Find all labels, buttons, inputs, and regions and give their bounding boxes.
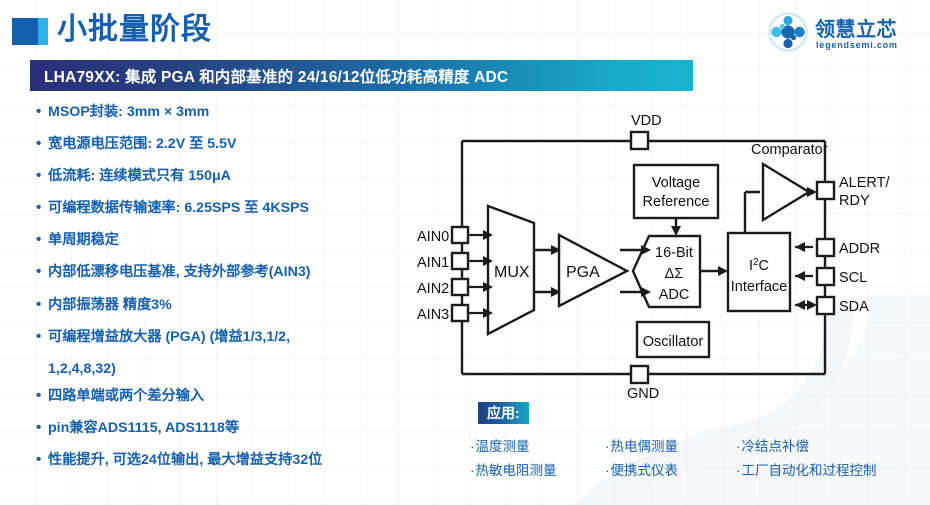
- label-alert: ALERT/: [839, 175, 890, 191]
- ain0-pin-square: [452, 227, 468, 243]
- label-ain2: AIN2: [417, 281, 449, 297]
- application-item: ·热电偶测量: [605, 438, 736, 455]
- application-bullet-icon: ·: [470, 463, 475, 478]
- comparator-input-line: [745, 192, 760, 233]
- feature-bullet-9: •四路单端或两个差分输入: [36, 388, 456, 404]
- label-sda: SDA: [839, 299, 869, 315]
- bullet-marker-icon: •: [36, 297, 48, 313]
- feature-bullet-2: •低流耗: 连续模式只有 150μA: [36, 168, 456, 184]
- applications-header-badge: 应用:: [478, 402, 529, 424]
- application-item: ·工厂自动化和过程控制: [736, 462, 877, 479]
- bullet-marker-icon: •: [36, 136, 48, 152]
- label-ain1: AIN1: [417, 255, 449, 271]
- label-i2c: I2C: [749, 257, 769, 274]
- accent-dark-square: [12, 18, 38, 45]
- bullet-marker-icon: •: [36, 168, 48, 184]
- application-bullet-icon: ·: [605, 439, 610, 454]
- bullet-marker-icon: •: [36, 200, 48, 216]
- bullet-marker-icon: •: [36, 264, 48, 280]
- application-item-text: 温度测量: [476, 439, 530, 454]
- bullet-marker-icon: •: [36, 388, 48, 404]
- alert-rdy-pin-square: [817, 182, 834, 199]
- feature-bullet-5: •内部低漂移电压基准, 支持外部参考(AIN3): [36, 264, 456, 280]
- feature-bullet-text: 宽电源电压范围: 2.2V 至 5.5V: [48, 136, 456, 152]
- feature-bullet-text: 四路单端或两个差分输入: [48, 388, 456, 404]
- svg-text:领慧立芯: 领慧立芯: [815, 17, 897, 41]
- label-vdd: VDD: [631, 113, 662, 129]
- bullet-marker-icon: •: [36, 452, 48, 468]
- feature-bullet-text: 1,2,4,8,32): [48, 361, 456, 377]
- feature-bullet-text: 内部振荡器 精度3%: [48, 297, 456, 313]
- applications-row: ·温度测量·热电偶测量·冷结点补偿: [470, 438, 930, 455]
- label-pga: PGA: [566, 264, 600, 281]
- application-item-text: 冷结点补偿: [742, 439, 810, 454]
- feature-bullet-list: •MSOP封装: 3mm × 3mm•宽电源电压范围: 2.2V 至 5.5V•…: [36, 104, 456, 484]
- feature-bullet-6: •内部振荡器 精度3%: [36, 297, 456, 313]
- application-item-text: 便携式仪表: [611, 463, 679, 478]
- application-item-text: 热电偶测量: [611, 439, 679, 454]
- label-mux: MUX: [494, 264, 530, 281]
- bullet-marker-icon: •: [36, 104, 48, 120]
- feature-bullet-0: •MSOP封装: 3mm × 3mm: [36, 104, 456, 120]
- applications-header-text: 应用:: [487, 403, 520, 423]
- bullet-marker-icon: •: [36, 232, 48, 248]
- feature-bullet-text: 可编程数据传输速率: 6.25SPS 至 4KSPS: [48, 200, 456, 216]
- feature-bullet-text: 单周期稳定: [48, 232, 456, 248]
- product-subtitle-banner: LHA79XX: 集成 PGA 和内部基准的 24/16/12位低功耗高精度 A…: [30, 60, 693, 91]
- application-bullet-icon: ·: [605, 463, 610, 478]
- voltage-reference-block: [634, 165, 718, 218]
- logo-wordmark-url: legendsemi.com: [816, 40, 898, 50]
- page-title: 小批量阶段: [57, 11, 212, 49]
- comparator-block: [763, 164, 809, 220]
- label-i2c-interface: Interface: [731, 279, 787, 295]
- feature-bullet-11: •性能提升, 可选24位输出, 最大增益支持32位: [36, 452, 456, 468]
- label-adc-1: 16-Bit: [655, 245, 693, 261]
- bullet-marker-icon: •: [36, 420, 48, 436]
- product-subtitle-text: LHA79XX: 集成 PGA 和内部基准的 24/16/12位低功耗高精度 A…: [44, 65, 508, 87]
- label-voltage-reference-1: Voltage: [652, 175, 700, 191]
- ain1-pin-square: [452, 253, 468, 269]
- feature-bullet-4: •单周期稳定: [36, 232, 456, 248]
- feature-bullet-3: •可编程数据传输速率: 6.25SPS 至 4KSPS: [36, 200, 456, 216]
- functional-block-diagram: VDD GND AIN0 AIN1 AIN2 AIN3 MUX PGA Volt…: [415, 110, 930, 405]
- label-rdy: RDY: [839, 193, 870, 209]
- feature-bullet-text: 内部低漂移电压基准, 支持外部参考(AIN3): [48, 264, 456, 280]
- feature-bullet-text: MSOP封装: 3mm × 3mm: [48, 104, 456, 120]
- legendsemi-logo: 领慧立芯 legendsemi.com: [768, 12, 922, 52]
- bullet-marker-icon: •: [36, 329, 48, 345]
- label-oscillator: Oscillator: [643, 334, 704, 350]
- addr-pin-square: [817, 239, 834, 256]
- application-item: ·温度测量: [470, 438, 605, 455]
- feature-bullet-1: •宽电源电压范围: 2.2V 至 5.5V: [36, 136, 456, 152]
- feature-bullet-10: •pin兼容ADS1115, ADS1118等: [36, 420, 456, 436]
- scl-pin-square: [817, 268, 834, 285]
- feature-bullet-text: 可编程增益放大器 (PGA) (增益1/3,1/2,: [48, 329, 456, 345]
- label-addr: ADDR: [839, 241, 880, 257]
- input-arrows: [468, 235, 483, 313]
- molecule-icon: [770, 14, 807, 51]
- label-scl: SCL: [839, 270, 867, 286]
- label-comparator: Comparator: [751, 142, 828, 158]
- application-item: ·便携式仪表: [605, 462, 736, 479]
- application-item-text: 工厂自动化和过程控制: [742, 463, 877, 478]
- application-bullet-icon: ·: [736, 463, 741, 478]
- ain3-pin-square: [452, 305, 468, 321]
- application-item-text: 热敏电阻测量: [476, 463, 557, 478]
- feature-bullet-8: •1,2,4,8,32): [36, 361, 456, 377]
- label-ain0: AIN0: [417, 229, 449, 245]
- logo-wordmark-cn: 领慧立芯: [815, 17, 897, 41]
- label-gnd: GND: [627, 386, 659, 402]
- applications-grid: ·温度测量·热电偶测量·冷结点补偿·热敏电阻测量·便携式仪表·工厂自动化和过程控…: [470, 438, 930, 486]
- application-bullet-icon: ·: [736, 439, 741, 454]
- label-adc-3: ADC: [659, 287, 690, 303]
- feature-bullet-7: •可编程增益放大器 (PGA) (增益1/3,1/2,: [36, 329, 456, 345]
- application-item: ·冷结点补偿: [736, 438, 809, 455]
- ain2-pin-square: [452, 279, 468, 295]
- applications-row: ·热敏电阻测量·便携式仪表·工厂自动化和过程控制: [470, 462, 930, 479]
- label-voltage-reference-2: Reference: [643, 194, 710, 210]
- application-item: ·热敏电阻测量: [470, 462, 605, 479]
- gnd-pin-square: [631, 366, 648, 383]
- title-accent-block: [12, 18, 48, 45]
- feature-bullet-text: 性能提升, 可选24位输出, 最大增益支持32位: [48, 452, 456, 468]
- accent-light-stripe: [38, 18, 48, 45]
- feature-bullet-text: 低流耗: 连续模式只有 150μA: [48, 168, 456, 184]
- slide-root: 小批量阶段 领慧立芯 legendsemi.com LHA79XX: 集成 PG…: [0, 0, 930, 505]
- feature-bullet-text: pin兼容ADS1115, ADS1118等: [48, 420, 456, 436]
- label-ain3: AIN3: [417, 307, 449, 323]
- svg-text:legendsemi.com: legendsemi.com: [816, 40, 898, 50]
- application-bullet-icon: ·: [470, 439, 475, 454]
- label-adc-2: ΔΣ: [665, 266, 684, 282]
- vdd-pin-square: [631, 132, 648, 149]
- sda-pin-square: [817, 297, 834, 314]
